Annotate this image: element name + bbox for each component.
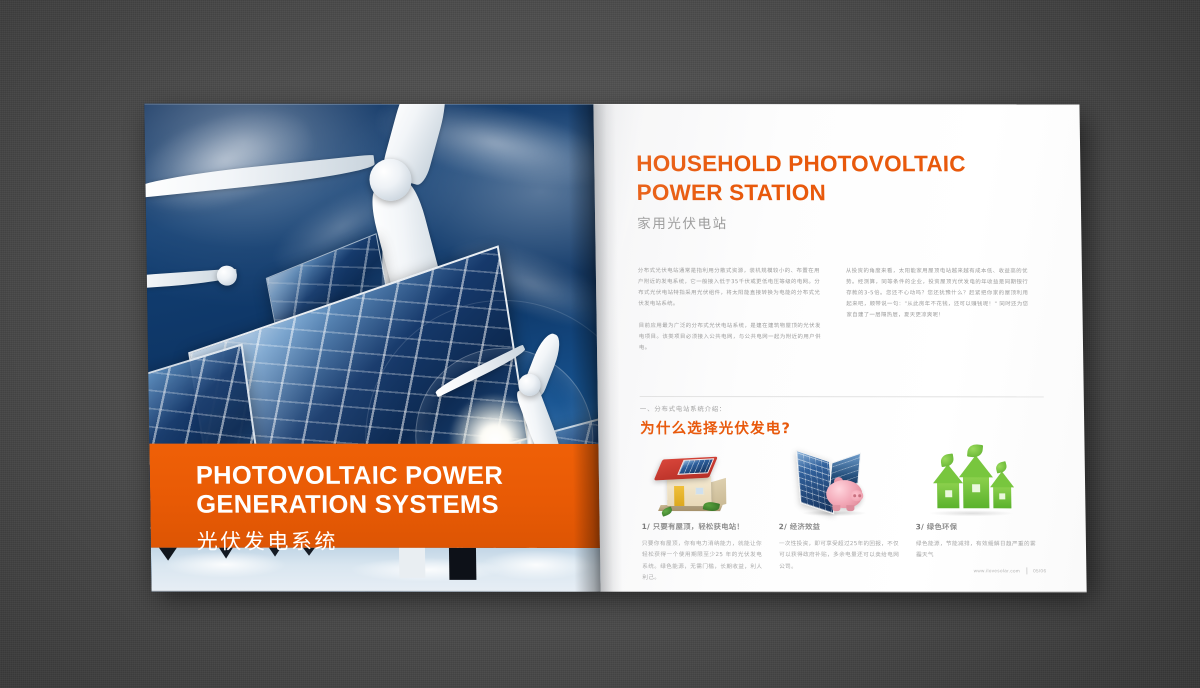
ground-silhouette [159, 548, 177, 561]
section-kicker-wrap: 一、分布式电站系统介绍： [640, 396, 1044, 413]
page-footer: www.ilovesolar.com 05/06 [974, 567, 1047, 574]
cover-title-cn: 光伏发电系统 [197, 525, 600, 555]
feature-item: 1/ 只要有屋顶，轻松获电站！ 只要你有屋顶，你有电力消纳能力，就能让你轻松获得… [641, 450, 763, 584]
eco-house-window [945, 490, 952, 497]
intro-text-block: 分布式光伏电站通常是指利用分散式资源，装机规模较小的、布置在用户附近的发电系统，… [638, 266, 1043, 355]
cover-title-en-line1: PHOTOVOLTAIC POWER [196, 462, 599, 492]
feature-number: 2/ [779, 522, 787, 531]
eco-house-window [972, 484, 980, 492]
house-with-solar-roof-icon [641, 450, 762, 518]
feature-list: 1/ 只要有屋顶，轻松获电站！ 只要你有屋顶，你有电力消纳能力，就能让你轻松获得… [641, 450, 1047, 584]
turbine-hub [518, 374, 540, 396]
cover-title-banner: PHOTOVOLTAIC POWER GENERATION SYSTEMS 光伏… [149, 444, 600, 548]
piggy-feet [832, 505, 840, 511]
icon-shadow [929, 510, 1013, 516]
turbine-hub [369, 159, 412, 201]
feature-body: 绿色能源，节能减排，有效缓解日趋严重的雾霾天气 [916, 539, 1036, 561]
ground-haze [351, 558, 501, 582]
green-eco-houses-icon [915, 450, 1036, 518]
brochure-spread: PHOTOVOLTAIC POWER GENERATION SYSTEMS 光伏… [144, 104, 1086, 593]
cover-title-en-line2: GENERATION SYSTEMS [196, 491, 599, 521]
feature-body: 只要你有屋顶，你有电力消纳能力，就能让你轻松获得一个使用期限至少25 年的光伏发… [642, 539, 763, 584]
intro-column-right: 从投资的角度来看，太阳能家用屋顶电站越来越有成本低、收益高的优势。经测算，同等条… [846, 266, 1029, 355]
section-title: 为什么选择光伏发电? [640, 417, 1044, 438]
footer-divider [1026, 567, 1027, 574]
feature-body: 一次性投资，即可享受超过25年的回报，不仅可以获得政府补贴，多余电量还可以卖给电… [779, 539, 900, 573]
icon-shadow [802, 510, 866, 516]
intro-column-left: 分布式光伏电站通常是指利用分散式资源，装机规模较小的、布置在用户附近的发电系统，… [638, 266, 821, 355]
feature-number: 3/ [916, 522, 924, 531]
intro-paragraph: 从投资的角度来看，太阳能家用屋顶电站越来越有成本低、收益高的优势。经测算，同等条… [846, 266, 1029, 322]
page-title-en-line2: POWER STATION [636, 179, 1040, 208]
feature-heading: 3/ 绿色环保 [916, 522, 1036, 532]
intro-paragraph: 分布式光伏电站通常是指利用分散式资源，装机规模较小的、布置在用户附近的发电系统，… [638, 266, 821, 310]
feature-heading: 2/ 经济效益 [779, 522, 899, 532]
section-divider [640, 396, 1044, 397]
eco-house-roof [959, 455, 993, 477]
piggy-bank-solar-house-icon [778, 450, 899, 518]
brochure-left-page: PHOTOVOLTAIC POWER GENERATION SYSTEMS 光伏… [144, 104, 600, 592]
house-window [695, 487, 704, 495]
feature-item: 2/ 经济效益 一次性投资，即可享受超过25年的回报，不仅可以获得政府补贴，多余… [778, 450, 900, 584]
eco-house-roof [990, 471, 1014, 487]
section-kicker-text: 一、分布式电站系统介绍： [640, 405, 726, 413]
brochure-right-page: HOUSEHOLD PHOTOVOLTAIC POWER STATION 家用光… [593, 104, 1086, 592]
feature-heading: 1/ 只要有屋顶，轻松获电站！ [642, 522, 762, 532]
house-door [674, 486, 684, 506]
feature-heading-text: 绿色环保 [927, 522, 958, 531]
feature-heading-text: 只要有屋顶，轻松获电站！ [653, 522, 744, 531]
feature-heading-text: 经济效益 [790, 522, 821, 531]
solar-roof-left [796, 450, 835, 515]
page-title-en-line1: HOUSEHOLD PHOTOVOLTAIC [636, 150, 1040, 179]
wind-turbine-edge-icon [144, 256, 227, 316]
feature-item: 3/ 绿色环保 绿色能源，节能减排，有效缓解日趋严重的雾霾天气 [915, 450, 1037, 584]
eco-house-window [999, 493, 1005, 499]
footer-website: www.ilovesolar.com [974, 568, 1020, 573]
footer-page-number: 05/06 [1033, 568, 1046, 573]
feature-number: 1/ [642, 522, 650, 531]
turbine-hub [217, 266, 237, 286]
page-title-cn: 家用光伏电站 [637, 212, 1041, 232]
intro-paragraph: 目前应用最为广泛的分布式光伏电站系统，是建在建筑物屋顶的光伏发电项目。该类项目必… [639, 321, 822, 354]
